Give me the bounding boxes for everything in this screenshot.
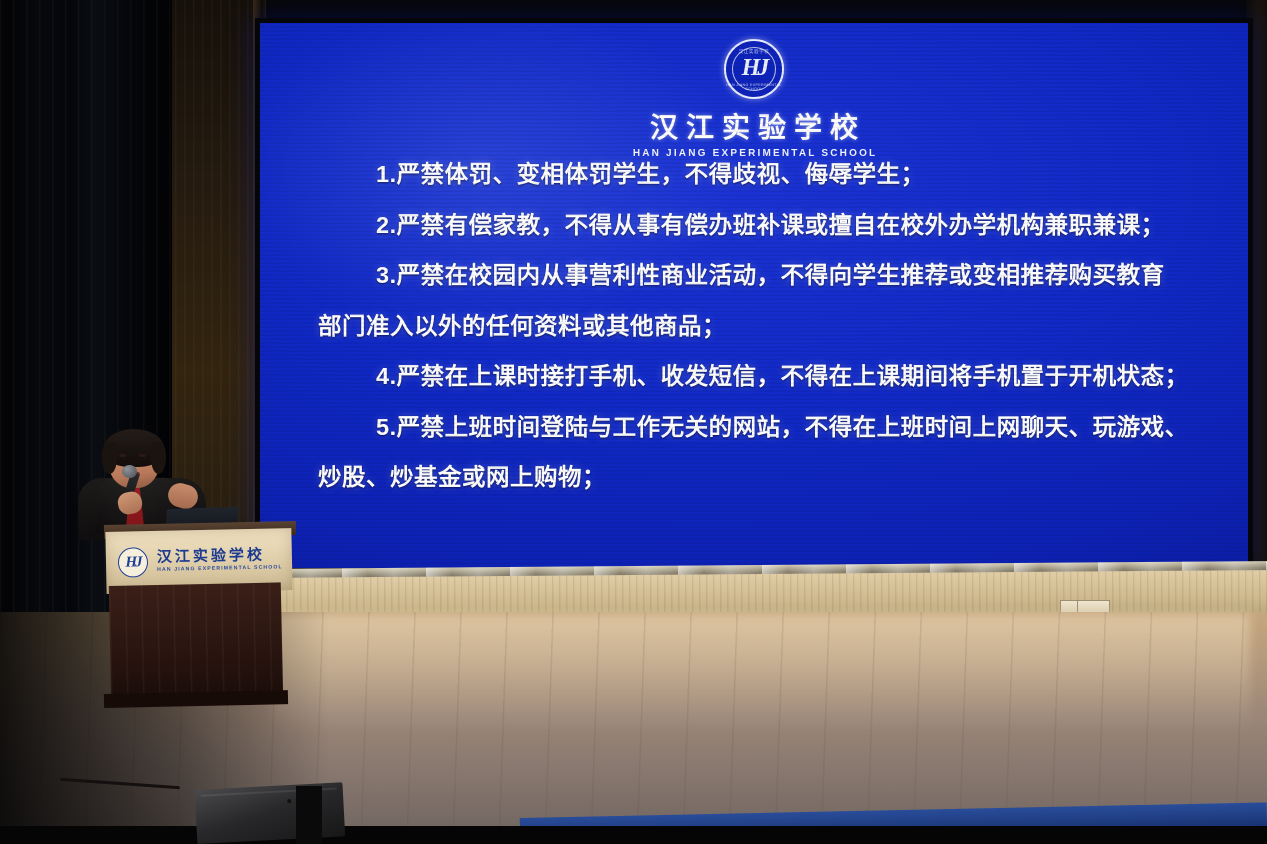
slide-line-3: 3.严禁在校园内从事营利性商业活动，不得向学生推荐或变相推荐购买教育 (318, 264, 1218, 288)
podium-school-name-cn: 汉江实验学校 (157, 548, 283, 566)
emblem-arc-top-text: 汉江实验学校 (726, 49, 782, 55)
auditorium-scene: 汉江实验学校 HJ HAN JIANG EXPERIMENTAL SCHOOL … (0, 0, 1267, 844)
podium-school-emblem-icon: HJ (118, 547, 149, 578)
slide-line-2: 2.严禁有偿家教，不得从事有偿办班补课或擅自在校外办学机构兼职兼课； (318, 214, 1218, 238)
stage-floor-monitor-speaker (195, 782, 346, 844)
school-emblem-icon: 汉江实验学校 HJ HAN JIANG EXPERIMENTAL SCHOOL (724, 39, 784, 99)
slide-line-1: 1.严禁体罚、变相体罚学生，不得歧视、侮辱学生； (318, 163, 1218, 187)
slide-header: 汉江实验学校 HJ HAN JIANG EXPERIMENTAL SCHOOL … (260, 39, 1248, 159)
stage-front-edge (0, 826, 1267, 844)
slide-line-4: 部门准入以外的任何资料或其他商品； (318, 315, 1218, 339)
slide-line-5: 4.严禁在上课时接打手机、收发短信，不得在上课期间将手机置于开机状态； (318, 365, 1218, 389)
emblem-arc-bottom-text: HAN JIANG EXPERIMENTAL SCHOOL (726, 83, 782, 91)
podium-school-name-en: HAN JIANG EXPERIMENTAL SCHOOL (157, 565, 283, 573)
slide-line-6: 5.严禁上班时间登陆与工作无关的网站，不得在上班时间上网聊天、玩游戏、 (318, 416, 1218, 440)
slide-line-7: 炒股、炒基金或网上购物； (318, 466, 1218, 490)
projection-screen: 汉江实验学校 HJ HAN JIANG EXPERIMENTAL SCHOOL … (260, 23, 1248, 568)
presenter-eye-left (119, 454, 126, 457)
emblem-monogram: HJ (726, 55, 782, 82)
presenter-hair-left (102, 442, 117, 474)
microphone-head-icon (122, 465, 137, 478)
podium-plate-text: 汉江实验学校 HAN JIANG EXPERIMENTAL SCHOOL (157, 548, 283, 573)
slide-school-name-cn: 汉江实验学校 (642, 106, 866, 146)
podium-body (109, 582, 283, 704)
monitor-indicator-dot (287, 799, 291, 803)
slide-text-body: 1.严禁体罚、变相体罚学生，不得歧视、侮辱学生；2.严禁有偿家教，不得从事有偿办… (260, 163, 1248, 502)
projection-screen-frame: 汉江实验学校 HJ HAN JIANG EXPERIMENTAL SCHOOL … (255, 18, 1253, 573)
slide-school-name-en: HAN JIANG EXPERIMENTAL SCHOOL (631, 148, 878, 159)
presenter-eye-right (139, 454, 146, 457)
stage-dark-box (296, 786, 322, 844)
presenter-hair-right (151, 442, 166, 474)
podium-emblem-monogram: HJ (119, 548, 148, 577)
